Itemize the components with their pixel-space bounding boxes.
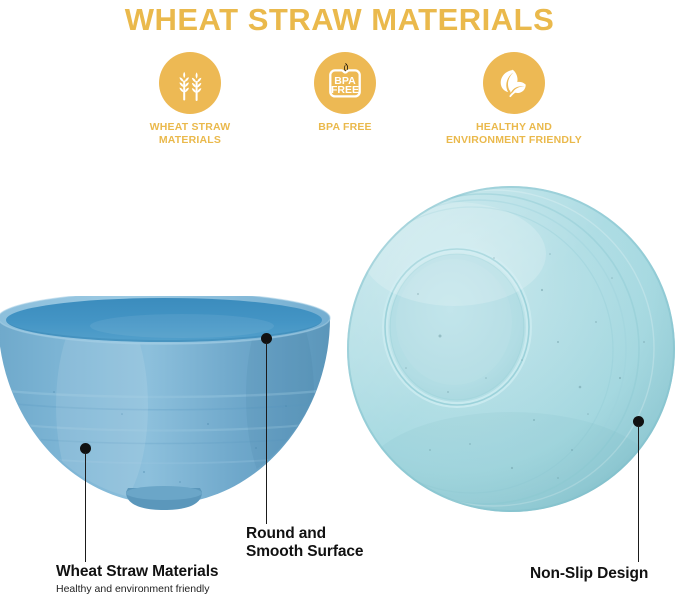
badge-wheat-straw: WHEAT STRAW MATERIALS [128,52,252,147]
callout-non-slip-design-title: Non-Slip Design [530,565,648,583]
callout-round-smooth-surface: Round and Smooth Surface [246,525,363,561]
callout-wheat-straw-materials-title: Wheat Straw Materials [56,563,218,581]
badge-eco-friendly: HEALTHY AND ENVIRONMENT FRIENDLY [432,52,596,147]
callout-line-round-smooth-surface [266,342,267,524]
wheat-stalks-icon [159,52,221,114]
callout-round-smooth-surface-title: Round and Smooth Surface [246,525,363,561]
badge-bpa-free: BPA FREE BPA FREE [286,52,404,134]
bpa-free-icon: BPA FREE [314,52,376,114]
feature-badge-row: WHEAT STRAW MATERIALS BPA FREE BPA FREE [0,52,679,172]
product-image-aqua-bowl [344,182,678,516]
svg-text:FREE: FREE [331,84,359,96]
product-image-blue-bowl [0,296,334,528]
product-infographic: WHEAT STRAW MATERIALS [0,0,679,614]
callout-non-slip-design: Non-Slip Design [530,565,648,583]
callout-wheat-straw-materials-subtitle: Healthy and environment friendly [56,582,218,596]
callout-line-wheat-straw-materials [85,452,86,562]
page-title: WHEAT STRAW MATERIALS [0,2,679,38]
badge-eco-friendly-label: HEALTHY AND ENVIRONMENT FRIENDLY [432,121,596,147]
callout-wheat-straw-materials: Wheat Straw Materials Healthy and enviro… [56,563,218,596]
badge-bpa-free-label: BPA FREE [286,121,404,134]
leaves-icon [483,52,545,114]
badge-wheat-straw-label: WHEAT STRAW MATERIALS [128,121,252,147]
callout-line-non-slip-design [638,425,639,562]
